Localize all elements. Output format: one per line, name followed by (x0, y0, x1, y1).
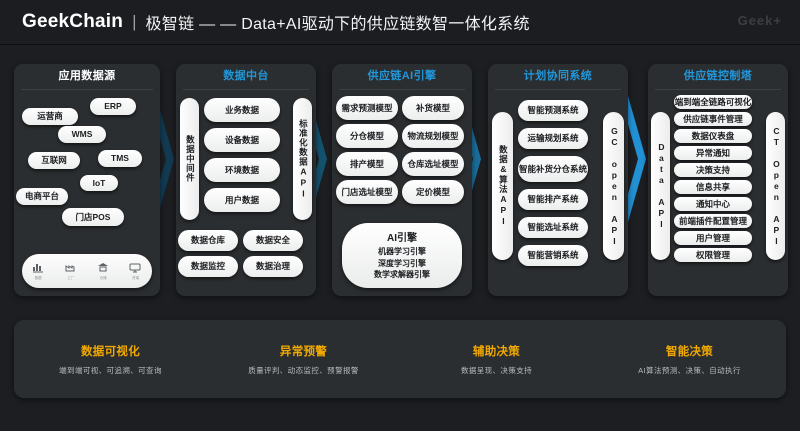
pill-environment-data[interactable]: 环境数据 (204, 158, 280, 182)
pill-data-warehouse[interactable]: 数据仓库 (178, 230, 238, 251)
header-divider (0, 44, 800, 45)
vertical-api-gc-open[interactable]: GC open API (603, 112, 624, 260)
outcome-exception-alert[interactable]: 异常预警 质量评判、动态监控、预警报警 (207, 343, 400, 376)
pill-demand-forecast-model[interactable]: 需求预测模型 (336, 96, 398, 120)
pill-warehouse-site-model[interactable]: 仓库选址模型 (402, 152, 464, 176)
vertical-api-data-middleware-label: 数据中间件 (185, 135, 195, 183)
warehouse-icon-caption: 仓储 (100, 275, 107, 280)
pill-erp[interactable]: ERP (90, 98, 136, 115)
pill-information-sharing[interactable]: 信息共享 (674, 180, 752, 194)
brand-logo: GeekChain (22, 11, 123, 33)
brand-separator: | (132, 12, 136, 32)
chart-icon-cell: 数据 (32, 262, 45, 280)
outcome-1-subtitle: 端到端可视、可追溯、可查询 (14, 365, 207, 376)
column-1-title: 应用数据源 (14, 64, 160, 89)
pill-smart-site-selection-system[interactable]: 智能选址系统 (518, 217, 588, 238)
vertical-api-ct-open-label: CT Open API (771, 126, 781, 247)
monitor-icon-caption: 终端 (132, 275, 139, 280)
pill-data-security[interactable]: 数据安全 (243, 230, 303, 251)
pill-store-pos[interactable]: 门店POS (62, 208, 124, 226)
outcome-4-title: 智能决策 (593, 343, 786, 359)
column-4-body: 数据&算法API GC open API 智能预测系统 运输规划系统 智能补货分… (488, 90, 628, 296)
column-4-title: 计划协同系统 (488, 64, 628, 89)
pill-user-data[interactable]: 用户数据 (204, 188, 280, 212)
chart-icon-caption: 数据 (35, 275, 42, 280)
pill-notification-center[interactable]: 通知中心 (674, 197, 752, 211)
warehouse-icon-cell: 仓储 (97, 262, 110, 280)
vertical-api-standard-data[interactable]: 标准化数据API (293, 98, 312, 220)
column-2-body: 数据中间件 标准化数据API 业务数据 设备数据 环境数据 用户数据 数据仓库 … (176, 90, 316, 296)
pill-wms[interactable]: WMS (58, 126, 106, 143)
vertical-api-data[interactable]: Data API (651, 112, 670, 260)
outcome-3-subtitle: 数据呈现、决策支持 (400, 365, 593, 376)
monitor-icon-cell: 终端 (129, 262, 142, 280)
pill-decision-support[interactable]: 决策支持 (674, 163, 752, 177)
pill-ecommerce[interactable]: 电商平台 (16, 188, 68, 205)
outcome-4-subtitle: AI算法预测、决策、自动执行 (593, 365, 786, 376)
pill-data-governance[interactable]: 数据治理 (243, 256, 303, 277)
outcome-assisted-decision[interactable]: 辅助决策 数据呈现、决策支持 (400, 343, 593, 376)
pill-internet[interactable]: 互联网 (28, 152, 80, 169)
ai-engine-line-math: 数学求解器引擎 (346, 269, 458, 281)
pill-smart-forecast-system[interactable]: 智能预测系统 (518, 100, 588, 121)
pill-business-data[interactable]: 业务数据 (204, 98, 280, 122)
column-planning-collaboration-system[interactable]: 计划协同系统 数据&算法API GC open API 智能预测系统 运输规划系… (488, 64, 628, 296)
data-source-icon-bar: 数据 工厂 仓储 (22, 254, 152, 288)
pill-exception-notification[interactable]: 异常通知 (674, 146, 752, 160)
slide-root: GeekChain | 极智链 — — Data+AI驱动下的供应链数智一体化系… (0, 0, 800, 431)
pill-operator[interactable]: 运营商 (22, 108, 78, 125)
pill-frontend-plugin-config[interactable]: 前端插件配置管理 (674, 214, 752, 228)
outcomes-bar: 数据可视化 端到端可视、可追溯、可查询 异常预警 质量评判、动态监控、预警报警 … (14, 320, 786, 398)
factory-icon-cell: 工厂 (64, 262, 77, 280)
pill-store-location-model[interactable]: 门店选址模型 (336, 180, 398, 204)
pill-user-management[interactable]: 用户管理 (674, 231, 752, 245)
pill-event-management[interactable]: 供应链事件管理 (674, 112, 752, 126)
pill-smart-marketing-system[interactable]: 智能营销系统 (518, 245, 588, 266)
page-title: 极智链 — — Data+AI驱动下的供应链数智一体化系统 (145, 10, 529, 34)
pill-end-to-end-visibility[interactable]: 端到端全链路可视化 (674, 95, 752, 109)
column-data-middle-platform[interactable]: 数据中台 数据中间件 标准化数据API 业务数据 设备数据 环境数据 用户数据 … (176, 64, 316, 296)
column-1-body: 运营商 ERP WMS 互联网 TMS IoT 电商平台 门店POS 数据 (14, 90, 160, 296)
column-supply-chain-control-tower[interactable]: 供应链控制塔 Data API CT Open API 端到端全链路可视化 供应… (648, 64, 788, 296)
ai-engine-title: AI引擎 (346, 229, 458, 244)
pill-data-dashboard[interactable]: 数据仪表盘 (674, 129, 752, 143)
column-supply-chain-ai-engine[interactable]: 供应链AI引擎 需求预测模型 分仓模型 排产模型 门店选址模型 补货模型 物流规… (332, 64, 472, 296)
column-application-data-source[interactable]: 应用数据源 运营商 ERP WMS 互联网 TMS IoT 电商平台 门店POS… (14, 64, 160, 296)
pill-permission-management[interactable]: 权限管理 (674, 248, 752, 262)
factory-icon (64, 262, 77, 274)
pill-tms[interactable]: TMS (98, 150, 142, 167)
warehouse-icon (97, 262, 110, 274)
column-5-body: Data API CT Open API 端到端全链路可视化 供应链事件管理 数… (648, 90, 788, 296)
vertical-api-data-label: Data API (656, 142, 666, 230)
column-5-title: 供应链控制塔 (648, 64, 788, 89)
ai-engine-box[interactable]: AI引擎 机器学习引擎 深度学习引擎 数学求解器引擎 (342, 223, 462, 288)
outcome-1-title: 数据可视化 (14, 343, 207, 359)
vertical-api-data-algorithm-label: 数据&算法API (498, 145, 508, 227)
outcome-3-title: 辅助决策 (400, 343, 593, 359)
pill-warehouse-split-model[interactable]: 分仓模型 (336, 124, 398, 148)
outcome-data-visualization[interactable]: 数据可视化 端到端可视、可追溯、可查询 (14, 343, 207, 376)
ai-engine-line-ml: 机器学习引擎 (346, 246, 458, 258)
pill-data-monitoring[interactable]: 数据监控 (178, 256, 238, 277)
pill-iot[interactable]: IoT (80, 175, 118, 191)
monitor-icon (129, 262, 142, 274)
vertical-api-ct-open[interactable]: CT Open API (766, 112, 785, 260)
vertical-api-standard-data-label: 标准化数据API (298, 119, 308, 200)
pill-device-data[interactable]: 设备数据 (204, 128, 280, 152)
outcome-2-subtitle: 质量评判、动态监控、预警报警 (207, 365, 400, 376)
pill-pricing-model[interactable]: 定价模型 (402, 180, 464, 204)
column-3-title: 供应链AI引擎 (332, 64, 472, 89)
pill-logistics-plan-model[interactable]: 物流规划模型 (402, 124, 464, 148)
chart-icon (32, 262, 45, 274)
column-2-title: 数据中台 (176, 64, 316, 89)
pill-transport-planning-system[interactable]: 运输规划系统 (518, 128, 588, 149)
pill-smart-production-system[interactable]: 智能排产系统 (518, 189, 588, 210)
vertical-api-data-algorithm[interactable]: 数据&算法API (492, 112, 513, 260)
vertical-api-data-middleware[interactable]: 数据中间件 (180, 98, 199, 220)
outcome-intelligent-decision[interactable]: 智能决策 AI算法预测、决策、自动执行 (593, 343, 786, 376)
header-bar: GeekChain | 极智链 — — Data+AI驱动下的供应链数智一体化系… (0, 0, 800, 44)
pill-smart-replenishment-system[interactable]: 智能补货分仓系统 (518, 156, 588, 182)
outcome-2-title: 异常预警 (207, 343, 400, 359)
pill-production-plan-model[interactable]: 排产模型 (336, 152, 398, 176)
factory-icon-caption: 工厂 (67, 275, 74, 280)
column-3-body: 需求预测模型 分仓模型 排产模型 门店选址模型 补货模型 物流规划模型 仓库选址… (332, 90, 472, 296)
pill-replenishment-model[interactable]: 补货模型 (402, 96, 464, 120)
ai-engine-line-dl: 深度学习引擎 (346, 258, 458, 270)
geek-plus-watermark: Geek+ (738, 13, 782, 28)
vertical-api-gc-open-label: GC open API (609, 126, 619, 247)
